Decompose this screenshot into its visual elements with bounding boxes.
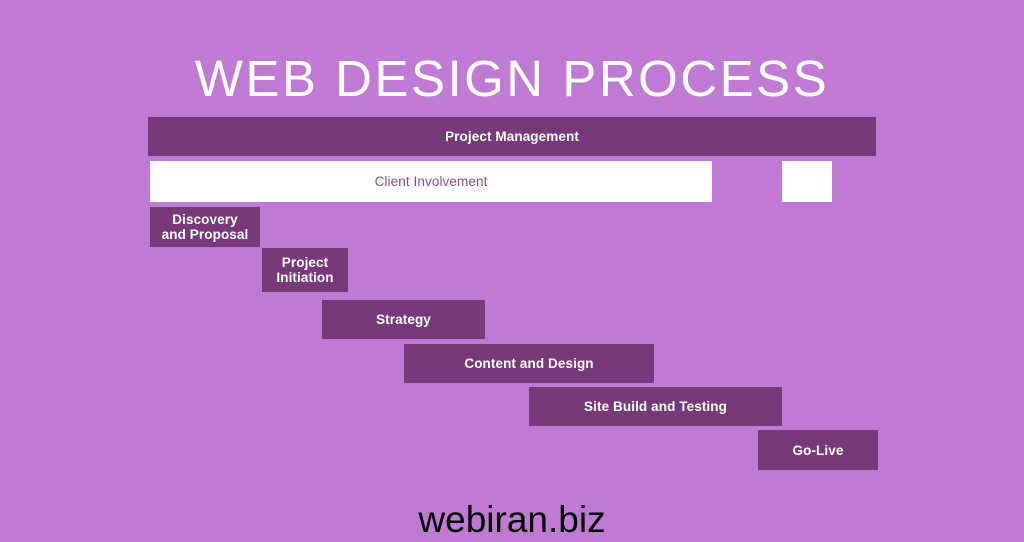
- watermark: webiran.biz: [0, 498, 1024, 542]
- phase-label-site-build-and-testing: Site Build and Testing: [584, 399, 727, 414]
- phase-label-line-2: Initiation: [276, 270, 333, 285]
- phase-label-line-2: and Proposal: [162, 227, 249, 242]
- phase-bar-go-live: Go-Live: [758, 430, 878, 470]
- phase-label-strategy: Strategy: [376, 312, 431, 327]
- phase-label-content-and-design: Content and Design: [464, 356, 593, 371]
- phase-label-line-1: Project: [282, 255, 328, 270]
- phase-bar-strategy: Strategy: [322, 300, 485, 339]
- page-title: WEB DESIGN PROCESS: [0, 50, 1024, 108]
- band-client-involvement-tail: [782, 161, 832, 202]
- phase-bar-site-build-and-testing: Site Build and Testing: [529, 387, 782, 426]
- phase-bar-discovery-and-proposal: Discovery and Proposal: [150, 207, 260, 247]
- phase-label-go-live: Go-Live: [793, 443, 844, 458]
- phase-label-project-initiation: Project Initiation: [276, 255, 333, 285]
- phase-label-discovery-and-proposal: Discovery and Proposal: [162, 212, 249, 242]
- band-client-involvement: Client Involvement: [150, 161, 712, 202]
- band-project-management-label: Project Management: [445, 129, 579, 144]
- phase-bar-project-initiation: Project Initiation: [262, 248, 348, 292]
- band-client-involvement-label: Client Involvement: [375, 174, 488, 189]
- infographic-canvas: WEB DESIGN PROCESS Project Management Cl…: [0, 0, 1024, 535]
- band-project-management: Project Management: [148, 117, 876, 156]
- phase-label-line-1: Discovery: [172, 212, 237, 227]
- phase-bar-content-and-design: Content and Design: [404, 344, 654, 383]
